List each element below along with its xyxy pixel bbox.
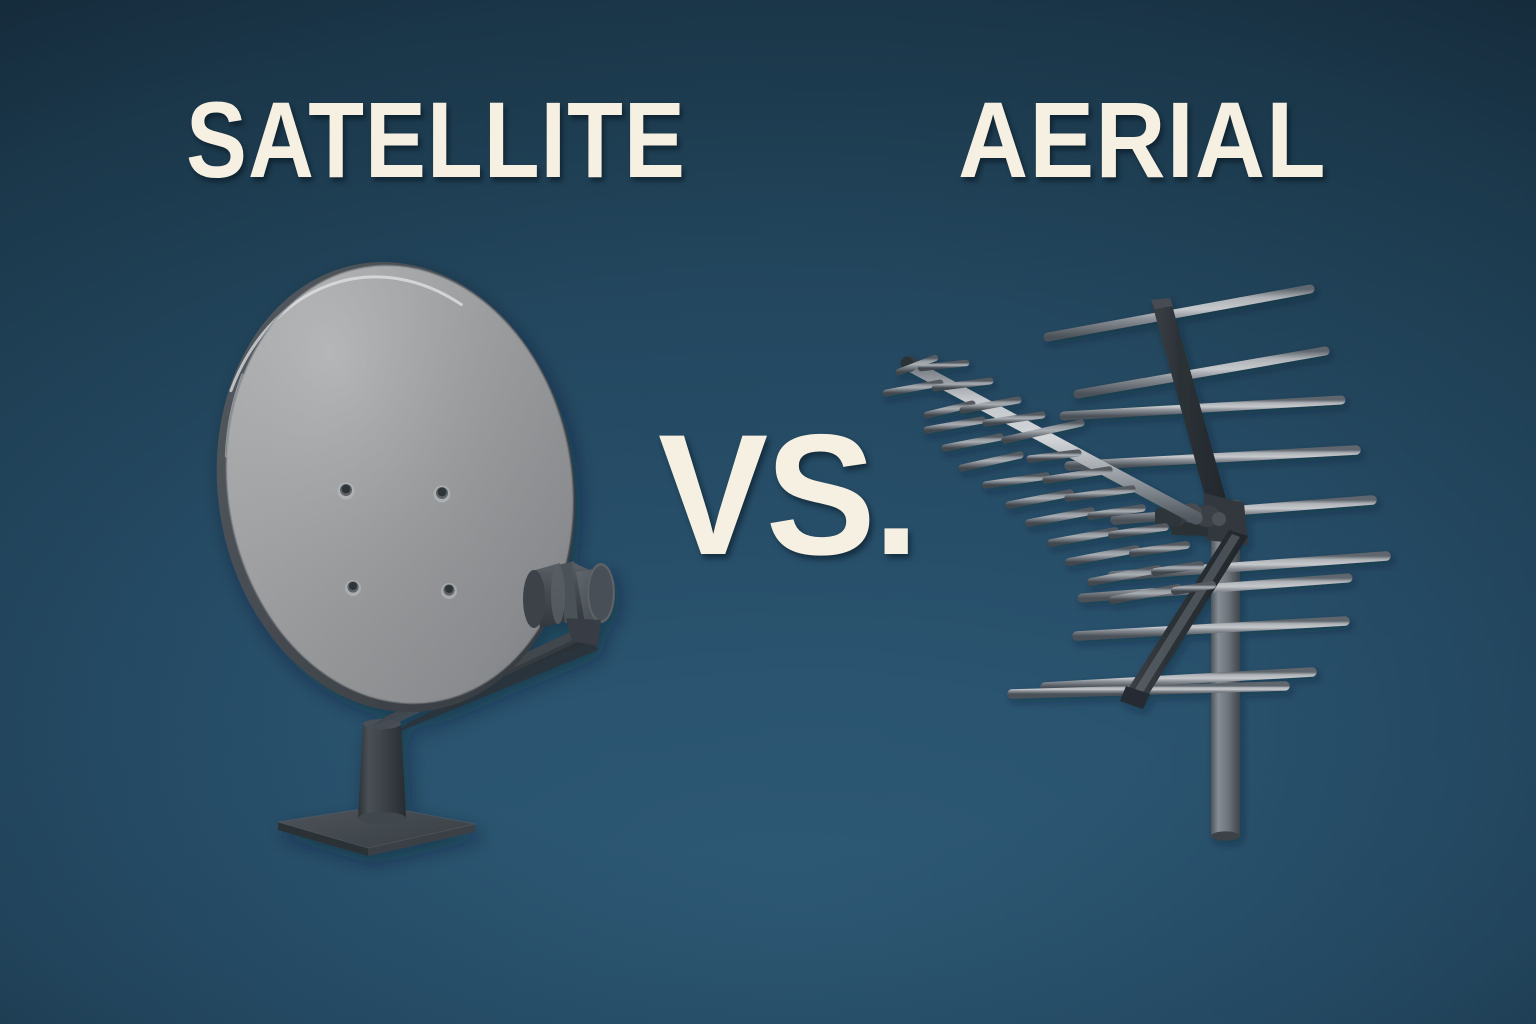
page-title-satellite: SATELLITE xyxy=(186,86,686,194)
poster-canvas: SATELLITE AERIAL VS. xyxy=(0,0,1536,1024)
page-title-aerial: AERIAL xyxy=(958,86,1327,194)
versus-label: VS. xyxy=(658,409,917,581)
